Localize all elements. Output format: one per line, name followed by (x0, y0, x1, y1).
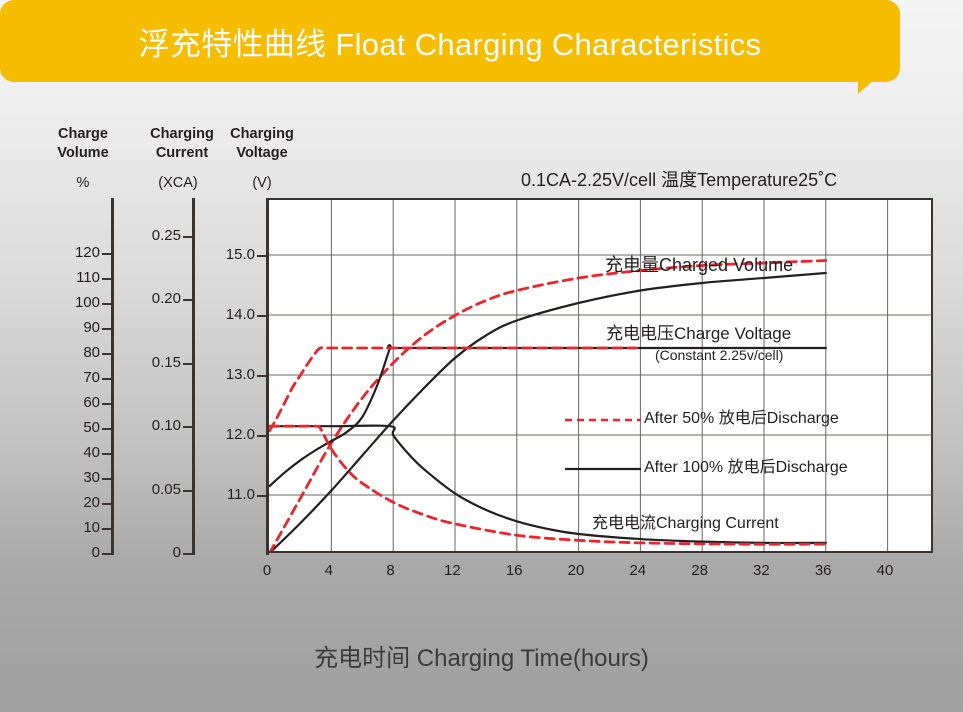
charging-current-tick-mark (183, 553, 195, 555)
charge-volume-tick-mark (102, 353, 114, 355)
annotation-charged-volume: 充电量Charged Volume (605, 255, 793, 276)
charging-current-tick-label: 0.15 (139, 355, 181, 370)
charge-volume-tick-mark (102, 553, 114, 555)
charge-volume-axis-unit: % (58, 175, 108, 191)
charging-current-axis-line (192, 198, 195, 555)
charging-voltage-tick-label: 12.0 (215, 427, 255, 442)
charge-volume-tick-label: 70 (64, 370, 100, 385)
charge-volume-tick-mark (102, 453, 114, 455)
x-axis-tick-label: 20 (556, 562, 596, 579)
charge-volume-tick-mark (102, 478, 114, 480)
plot-area: 充电量Charged Volume 充电电压Charge Voltage (Co… (266, 198, 933, 553)
charging-voltage-tick-label: 11.0 (215, 487, 255, 502)
charging-voltage-axis-title-line2: Voltage (236, 145, 287, 161)
data-curves (270, 261, 826, 552)
charge-volume-tick-label: 100 (64, 295, 100, 310)
x-axis-tick-label: 12 (432, 562, 472, 579)
charge-volume-tick-mark (102, 328, 114, 330)
charge-volume-tick-label: 50 (64, 420, 100, 435)
charging-current-axis-title-line2: Current (156, 145, 208, 161)
x-axis-tick-label: 36 (803, 562, 843, 579)
charging-voltage-axis-unit: (V) (232, 175, 292, 191)
charge-volume-tick-label: 30 (64, 470, 100, 485)
charging-current-tick-label: 0.10 (139, 418, 181, 433)
legend-label-1: After 100% 放电后Discharge (644, 459, 848, 477)
charging-current-tick-mark (183, 299, 195, 301)
charging-current-tick-label: 0.20 (139, 291, 181, 306)
plot-svg (269, 200, 932, 551)
charging-current-tick-mark (183, 426, 195, 428)
charging-current-tick-mark (183, 490, 195, 492)
charge-volume-tick-label: 40 (64, 445, 100, 460)
charge-volume-tick-label: 60 (64, 395, 100, 410)
annotation-charge-voltage: 充电电压Charge Voltage (606, 324, 791, 344)
charge-volume-tick-label: 110 (64, 270, 100, 285)
charge-volume-tick-mark (102, 503, 114, 505)
charge-volume-tick-label: 20 (64, 495, 100, 510)
charging-current-axis-title: Charging Current (136, 125, 228, 163)
charging-voltage-tick-label: 15.0 (215, 247, 255, 262)
charging-current-tick-label: 0.25 (139, 228, 181, 243)
charge-volume-tick-mark (102, 528, 114, 530)
annotation-charge-voltage-sub: (Constant 2.25v/cell) (655, 347, 783, 363)
chart-page: 浮充特性曲线 Float Charging Characteristics Ch… (0, 0, 963, 712)
charge-volume-axis-title: Charge Volume (38, 125, 128, 163)
x-axis-tick-label: 0 (247, 562, 287, 579)
charging-voltage-axis-title-line1: Charging (230, 126, 294, 142)
charge-volume-tick-mark (102, 253, 114, 255)
charge-volume-axis-title-line1: Charge (58, 126, 108, 142)
curve-charge-volume-after-50 (270, 261, 826, 552)
x-axis-tick-label: 28 (680, 562, 720, 579)
x-axis-tick-label: 32 (741, 562, 781, 579)
charging-current-tick-label: 0.05 (139, 482, 181, 497)
legend-label-0: After 50% 放电后Discharge (644, 410, 839, 428)
x-axis-tick-label: 8 (371, 562, 411, 579)
charge-volume-tick-label: 80 (64, 345, 100, 360)
charging-voltage-axis-title: Charging Voltage (218, 125, 306, 163)
charge-volume-axis-line (111, 198, 114, 555)
charging-current-tick-mark (183, 363, 195, 365)
charge-volume-tick-mark (102, 278, 114, 280)
charging-current-axis-title-line1: Charging (150, 126, 214, 142)
charge-volume-tick-label: 120 (64, 245, 100, 260)
charging-current-axis-unit: (XCA) (143, 175, 213, 191)
page-title: 浮充特性曲线 Float Charging Characteristics (0, 0, 900, 82)
annotation-charging-current: 充电电流Charging Current (592, 515, 779, 533)
charging-current-tick-mark (183, 236, 195, 238)
x-axis-title: 充电时间 Charging Time(hours) (0, 638, 963, 673)
charging-voltage-tick-label: 13.0 (215, 367, 255, 382)
charge-volume-tick-label: 10 (64, 520, 100, 535)
x-axis-tick-label: 4 (309, 562, 349, 579)
charge-volume-axis-title-line2: Volume (57, 145, 108, 161)
charging-current-tick-label: 0 (139, 545, 181, 560)
gridlines (269, 200, 932, 551)
chart-condition-note: 0.1CA-2.25V/cell 温度Temperature25˚C (521, 166, 837, 192)
charge-volume-tick-mark (102, 428, 114, 430)
charging-voltage-tick-label: 14.0 (215, 307, 255, 322)
charge-volume-tick-label: 0 (64, 545, 100, 560)
charge-volume-tick-label: 90 (64, 320, 100, 335)
x-axis-tick-label: 16 (494, 562, 534, 579)
charge-volume-tick-mark (102, 378, 114, 380)
x-axis-tick-label: 24 (618, 562, 658, 579)
charge-volume-tick-mark (102, 303, 114, 305)
x-axis-tick-label: 40 (865, 562, 905, 579)
charge-volume-tick-mark (102, 403, 114, 405)
